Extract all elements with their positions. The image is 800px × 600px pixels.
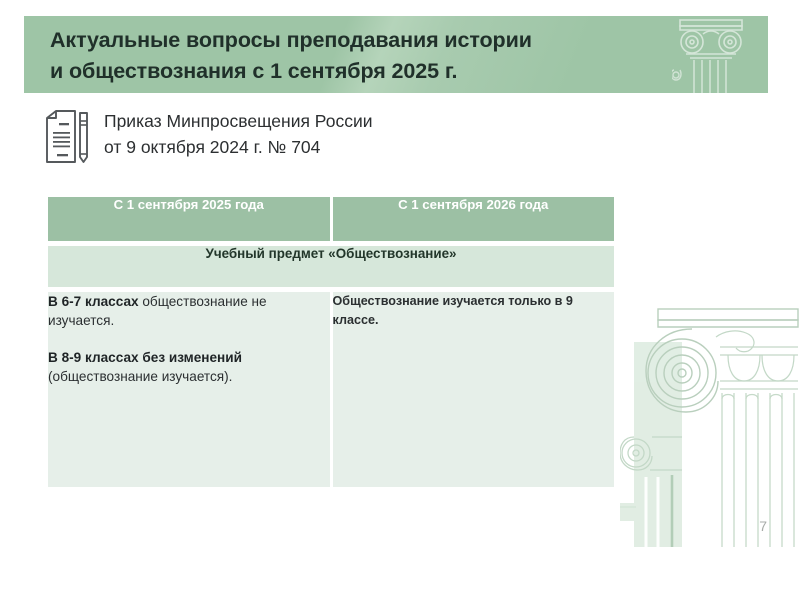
cell-2025-p2-rest: (обществознание изучается). [48, 369, 232, 384]
order-reference: Приказ Минпросвещения России от 9 октябр… [44, 108, 373, 164]
table-header-row: С 1 сентября 2025 года С 1 сентября 2026… [48, 197, 614, 241]
cell-2025-content: В 6-7 классах обществознание не изучаетс… [48, 292, 331, 487]
document-pen-icon [44, 110, 90, 164]
comparison-table: С 1 сентября 2025 года С 1 сентября 2026… [48, 197, 614, 487]
cell-2025-paragraph-2: В 8-9 классах без изменений (обществозна… [48, 348, 330, 387]
page-number: 7 [759, 518, 767, 534]
order-reference-text: Приказ Минпросвещения России от 9 октябр… [104, 108, 373, 160]
slide-canvas: Актуальные вопросы преподавания истории … [0, 0, 800, 600]
cell-2025-paragraph-1: В 6-7 классах обществознание не изучаетс… [48, 292, 330, 331]
subject-row: Учебный предмет «Обществознание» [48, 246, 614, 287]
table-row: В 6-7 классах обществознание не изучаетс… [48, 292, 614, 487]
ionic-column-icon [620, 285, 800, 550]
slide-title-bar: Актуальные вопросы преподавания истории … [24, 16, 768, 93]
cell-2025-p2-bold: В 8-9 классах без изменений [48, 350, 242, 365]
column-header-2025: С 1 сентября 2025 года [48, 197, 331, 241]
cell-2026-content: Обществознание изучается только в 9 клас… [331, 292, 614, 487]
cell-2026-paragraph-1: Обществознание изучается только в 9 клас… [333, 292, 615, 330]
subject-label: Учебный предмет «Обществознание» [48, 246, 614, 287]
column-header-2026: С 1 сентября 2026 года [331, 197, 614, 241]
cell-2025-p1-bold: В 6-7 классах [48, 294, 139, 309]
page-title: Актуальные вопросы преподавания истории … [50, 25, 678, 86]
ionic-column-icon [672, 16, 750, 93]
